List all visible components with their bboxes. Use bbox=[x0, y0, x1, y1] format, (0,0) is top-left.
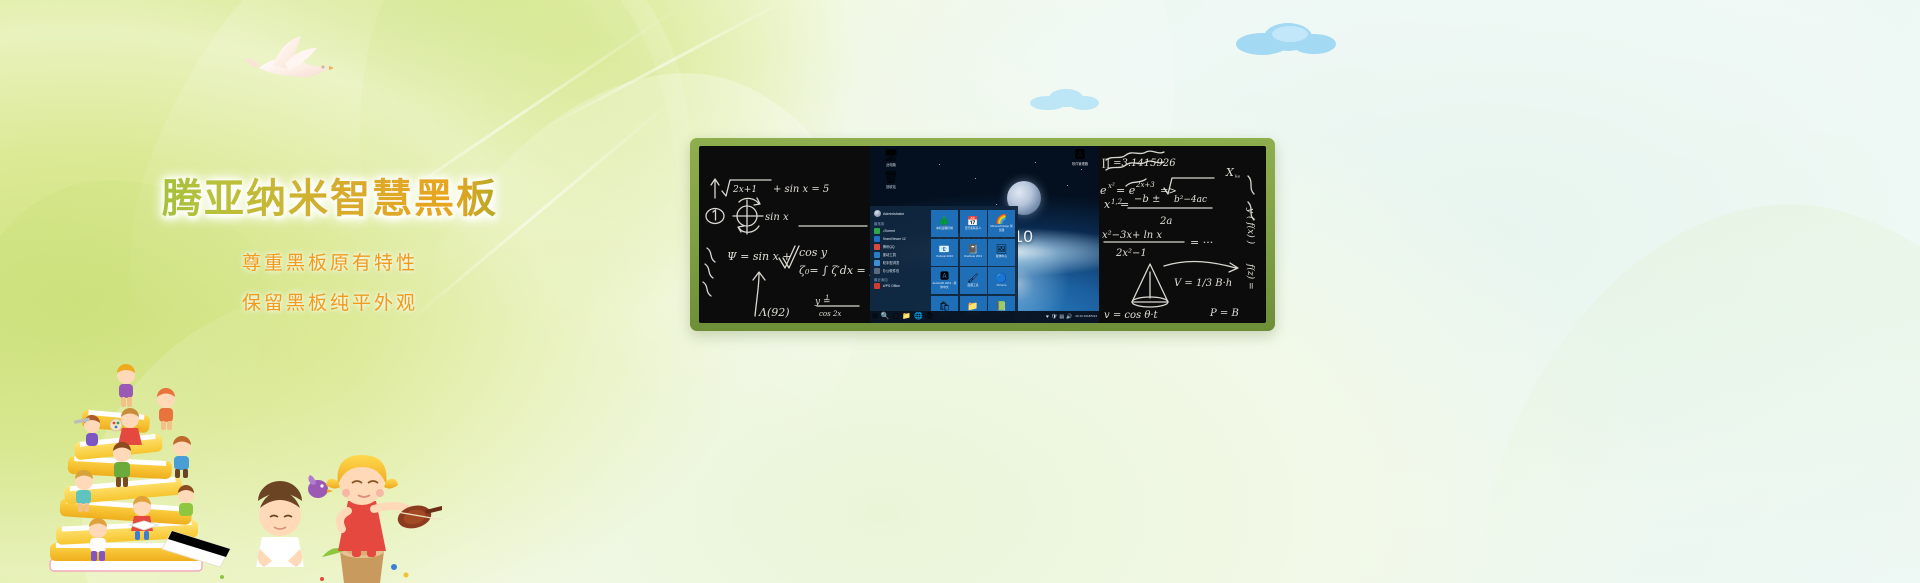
desktop-icon-right[interactable]: 🅰 软件管理器 bbox=[1067, 149, 1093, 166]
svg-text:2x²−1: 2x²−1 bbox=[1115, 248, 1147, 259]
tile-glyph: 🖌 bbox=[967, 274, 978, 283]
svg-text:cos y: cos y bbox=[799, 246, 828, 259]
kid-green-right bbox=[178, 485, 194, 516]
taskbar-clock[interactable]: 20:15 2018/5/24 bbox=[1075, 315, 1097, 318]
svg-text:f(z) =: f(z) = bbox=[1245, 263, 1256, 290]
tile-outlook[interactable]: 📧 Outlook 2013 bbox=[931, 239, 958, 266]
subtitle-group: 尊重黑板原有特性 保留黑板纯平外观 bbox=[0, 244, 660, 324]
confetti-dot bbox=[220, 575, 224, 579]
app-label: 腾讯QQ bbox=[883, 244, 895, 249]
heart-icon[interactable]: ♥ bbox=[1046, 314, 1049, 320]
avatar bbox=[874, 210, 881, 217]
app-tile-icon bbox=[874, 236, 880, 242]
svg-text:V = 1/3 B·h: V = 1/3 B·h bbox=[1174, 278, 1232, 289]
promo-banner: 腾亚纳米智慧黑板 尊重黑板原有特性 保留黑板纯平外观 bbox=[0, 0, 1920, 583]
tile-autocad[interactable]: 🅰 AutoCAD 2016 - 简体中文 bbox=[931, 267, 958, 294]
start-menu-user[interactable]: Administrator bbox=[874, 210, 927, 217]
svg-text:∏ =3.1415926: ∏ =3.1415926 bbox=[1102, 158, 1176, 169]
svg-text:v = cos θ·t: v = cos θ·t bbox=[1104, 310, 1159, 321]
kid-telescope bbox=[74, 415, 100, 446]
confetti-dot bbox=[404, 573, 409, 578]
app-label: 双手型浏览 bbox=[883, 260, 900, 265]
svg-text:2x+1: 2x+1 bbox=[732, 185, 757, 195]
book-stack-illustration bbox=[50, 409, 230, 571]
this-pc-label: 此电脑 bbox=[875, 162, 907, 167]
tile-glyph: 🌈 bbox=[996, 215, 1007, 224]
subtitle-line-1: 尊重黑板原有特性 bbox=[0, 244, 660, 284]
tile-browser[interactable]: 🌈 Microsoft Edge 浏览器 bbox=[988, 210, 1015, 237]
chalk-formulas-right: ∏ =3.1415926 ex² = e2x+3 => Xᵏᵉ x1,2 = −… bbox=[1098, 146, 1266, 323]
tile-label: AutoCAD 2016 - 简体中文 bbox=[931, 282, 958, 288]
girl-violinist bbox=[322, 455, 442, 583]
recycle-bin-label: 回收站 bbox=[875, 184, 907, 189]
task-view-icon[interactable]: ▢ bbox=[893, 313, 900, 321]
svg-text:= ···: = ··· bbox=[1190, 236, 1213, 249]
kid-orange bbox=[157, 388, 175, 430]
app-label: WPS Office bbox=[883, 284, 900, 288]
tile-label: 本机运程控制 bbox=[935, 227, 954, 230]
tile-label: 日历和联系人 bbox=[964, 227, 983, 230]
user-name: Administrator bbox=[883, 212, 904, 216]
svg-text:Ψ = sin x +: Ψ = sin x + bbox=[727, 250, 792, 263]
taskbar[interactable]: ⊞ 🔍 ▢ 📁 🌐 🛍 ♥ 🛡 ▤ 🔊 20:15 2018/5/24 bbox=[870, 311, 1099, 323]
start-menu-app-list: Administrator 最常用 μTorrent TeamViewer 12 bbox=[870, 206, 930, 311]
store-icon[interactable]: 🛍 bbox=[926, 313, 935, 321]
app-label: 办公软件包 bbox=[883, 268, 900, 273]
svg-text:P = B: P = B bbox=[1209, 308, 1239, 319]
recycle-bin-glyph: 🗑 bbox=[874, 171, 908, 184]
svg-text:x²−3x+ ln x: x²−3x+ ln x bbox=[1102, 230, 1162, 241]
this-pc-icon[interactable]: 🖥 此电脑 bbox=[874, 149, 908, 167]
start-app-item[interactable]: 办公软件包 bbox=[874, 268, 927, 274]
browser-icon[interactable]: 🌐 bbox=[914, 313, 923, 321]
start-app-item[interactable]: TeamViewer 12 bbox=[874, 236, 927, 242]
tile-glyph: 🌲 bbox=[939, 217, 950, 226]
tile-chrome[interactable]: 🔵 Chrome bbox=[988, 267, 1015, 294]
svg-text:2a: 2a bbox=[1159, 216, 1172, 227]
start-menu[interactable]: Administrator 最常用 μTorrent TeamViewer 12 bbox=[870, 206, 1018, 311]
cloud-icon bbox=[1028, 84, 1102, 112]
svg-text:x: x bbox=[1104, 198, 1111, 211]
app-tile-icon bbox=[874, 268, 880, 274]
children-illustration bbox=[22, 353, 442, 583]
tile-label: Microsoft Edge 浏览器 bbox=[988, 225, 1015, 231]
tile-label: 画图工具 bbox=[966, 284, 979, 287]
recycle-bin-icon[interactable]: 🗑 回收站 bbox=[874, 171, 908, 189]
tile-glyph: 🖼 bbox=[996, 245, 1007, 254]
start-app-item[interactable]: 双手型浏览 bbox=[874, 260, 927, 266]
confetti-dot bbox=[320, 577, 324, 581]
tile-glyph: 📧 bbox=[939, 245, 950, 254]
svg-text:=: = bbox=[1120, 198, 1129, 211]
svg-text:ζ₀= ∫ ζ′dx = ∫(··): ζ₀= ∫ ζ′dx = ∫(··) bbox=[799, 264, 870, 277]
app-icon-glyph: 🅰 bbox=[1067, 149, 1093, 161]
svg-text:X: X bbox=[1225, 166, 1235, 179]
kid-green bbox=[113, 442, 131, 487]
tile-glyph: 📅 bbox=[967, 217, 978, 226]
cloud-icon bbox=[1232, 16, 1342, 58]
svg-text:−b ±: −b ± bbox=[1134, 194, 1160, 205]
start-app-item[interactable]: μTorrent bbox=[874, 228, 927, 234]
windows-start-icon[interactable]: ⊞ bbox=[872, 313, 878, 321]
kid-top bbox=[117, 364, 135, 407]
this-pc-glyph: 🖥 bbox=[874, 149, 908, 162]
app-tile-icon bbox=[874, 260, 880, 266]
tile-label: 媒体中心 bbox=[995, 255, 1008, 258]
app-icon-label: 软件管理器 bbox=[1067, 161, 1093, 166]
tile-wechat[interactable]: 🌲 本机运程控制 bbox=[931, 210, 958, 237]
app-label: TeamViewer 12 bbox=[883, 237, 906, 241]
app-tile-icon bbox=[874, 283, 880, 289]
svg-text:y ( f(x) ): y ( f(x) ) bbox=[1245, 207, 1256, 245]
tile-paint[interactable]: 🖌 画图工具 bbox=[960, 267, 987, 294]
tile-label: OneNote 2013 bbox=[963, 255, 983, 258]
tile-label: Outlook 2013 bbox=[935, 255, 954, 258]
group-title-recently-added: 最近添加 bbox=[874, 277, 927, 282]
svg-text:e: e bbox=[1100, 184, 1107, 197]
network-icon[interactable]: ▤ bbox=[1059, 314, 1064, 320]
svg-text:b²−4ac: b²−4ac bbox=[1174, 195, 1207, 205]
folder-icon[interactable]: 📁 bbox=[902, 313, 911, 321]
windows-desktop-screen[interactable]: Windows 10 🖥 此电脑 🗑 回收站 🅰 软件管理器 bbox=[870, 146, 1099, 323]
svg-text:1: 1 bbox=[825, 294, 829, 302]
start-app-item[interactable]: 驱动工具 bbox=[874, 252, 927, 258]
svg-text:+ sin x = 5: + sin x = 5 bbox=[773, 184, 829, 195]
svg-text:cos 2x: cos 2x bbox=[819, 310, 841, 318]
kid-climbing-right bbox=[173, 436, 191, 478]
tile-glyph: 🔵 bbox=[996, 274, 1007, 283]
page-title: 腾亚纳米智慧黑板 bbox=[0, 176, 660, 222]
app-tile-icon bbox=[874, 252, 880, 258]
tile-label: Chrome bbox=[996, 284, 1008, 287]
group-title-most-used: 最常用 bbox=[874, 221, 927, 226]
svg-text:= e: = e bbox=[1116, 184, 1136, 197]
tile-photos[interactable]: 🖼 媒体中心 bbox=[988, 239, 1015, 266]
tile-glyph: 📓 bbox=[967, 245, 978, 254]
tile-onenote[interactable]: 📓 OneNote 2013 bbox=[960, 239, 987, 266]
tile-calendar[interactable]: 📅 日历和联系人 bbox=[960, 210, 987, 237]
svg-text:x²: x² bbox=[1108, 182, 1115, 190]
svg-text:sin x: sin x bbox=[765, 212, 789, 223]
subtitle-line-2: 保留黑板纯平外观 bbox=[0, 284, 660, 324]
seated-boy bbox=[256, 481, 304, 567]
smart-blackboard[interactable]: 2x+1 + sin x = 5 sin x Ψ = sin x + cos y… bbox=[690, 138, 1275, 331]
desktop-icon-list: 🖥 此电脑 🗑 回收站 bbox=[874, 149, 908, 193]
start-app-item[interactable]: 腾讯QQ bbox=[874, 244, 927, 250]
svg-text:ᵏᵉ: ᵏᵉ bbox=[1235, 174, 1241, 182]
system-tray[interactable]: ♥ 🛡 ▤ 🔊 bbox=[1046, 314, 1072, 320]
svg-text:Λ(92): Λ(92) bbox=[758, 306, 790, 319]
blackboard-surface: 2x+1 + sin x = 5 sin x Ψ = sin x + cos y… bbox=[699, 146, 1266, 323]
shield-icon[interactable]: 🛡 bbox=[1051, 314, 1057, 320]
start-menu-tiles: 🌲 本机运程控制 📅 日历和联系人 🌈 Microsoft Edge 浏览器 bbox=[930, 206, 1018, 311]
app-label: μTorrent bbox=[883, 229, 896, 233]
search-icon[interactable]: 🔍 bbox=[881, 313, 890, 321]
volume-icon[interactable]: 🔊 bbox=[1066, 314, 1072, 320]
chalk-formulas-left: 2x+1 + sin x = 5 sin x Ψ = sin x + cos y… bbox=[699, 146, 870, 323]
headline-block: 腾亚纳米智慧黑板 尊重黑板原有特性 保留黑板纯平外观 bbox=[0, 176, 660, 324]
start-app-item[interactable]: WPS Office bbox=[874, 283, 927, 289]
app-tile-icon bbox=[874, 244, 880, 250]
svg-text:2x+3: 2x+3 bbox=[1135, 181, 1155, 189]
app-label: 驱动工具 bbox=[883, 252, 897, 257]
tile-glyph: 🅰 bbox=[940, 272, 949, 281]
dove-icon bbox=[243, 28, 333, 90]
confetti-dot bbox=[391, 564, 397, 570]
app-tile-icon bbox=[874, 228, 880, 234]
